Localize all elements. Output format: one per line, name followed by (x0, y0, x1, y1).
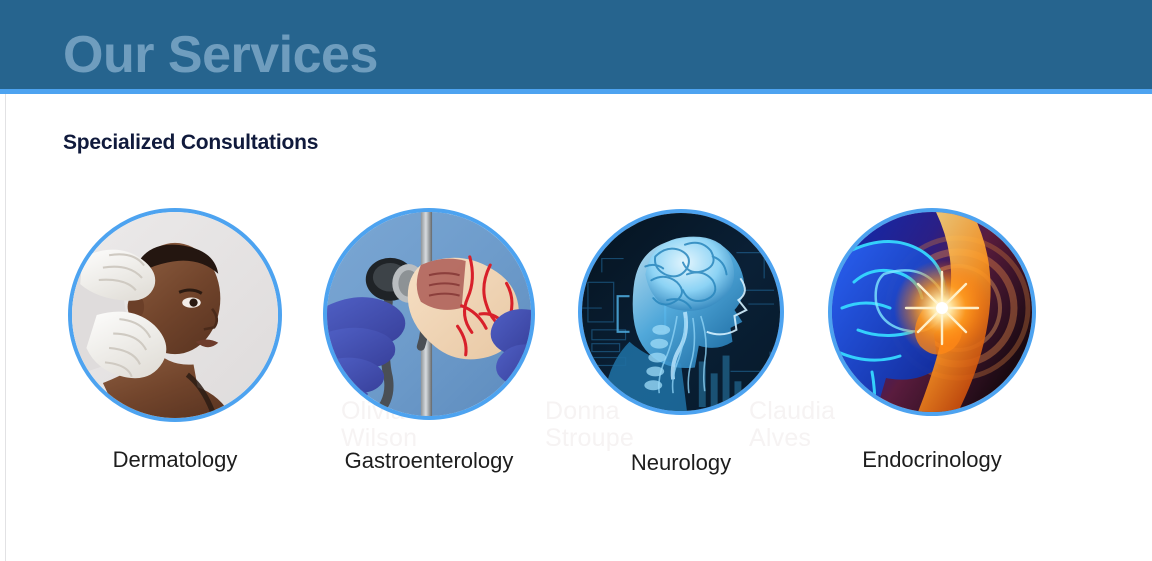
gastroenterology-photo (323, 208, 535, 420)
endocrinology-photo (828, 208, 1036, 416)
service-card-dermatology[interactable]: Dermatology (68, 208, 282, 422)
header-banner: Our Services (0, 0, 1152, 89)
service-card-neurology[interactable]: Neurology (578, 209, 784, 415)
service-label-endocrinology: Endocrinology (828, 447, 1036, 473)
section-title: Specialized Consultations (63, 131, 318, 155)
service-label-gastroenterology: Gastroenterology (323, 448, 535, 474)
dermatology-photo (68, 208, 282, 422)
service-label-dermatology: Dermatology (68, 447, 282, 473)
service-card-gastroenterology[interactable]: Gastroenterology (323, 208, 535, 420)
slide-edge-line (5, 92, 6, 561)
neurology-photo (578, 209, 784, 415)
service-label-neurology: Neurology (578, 450, 784, 476)
slide-canvas: Our Services Specialized Consultations O… (0, 0, 1152, 561)
header-accent-bar (0, 89, 1152, 94)
page-title: Our Services (63, 29, 378, 81)
service-card-endocrinology[interactable]: Endocrinology (828, 208, 1036, 416)
